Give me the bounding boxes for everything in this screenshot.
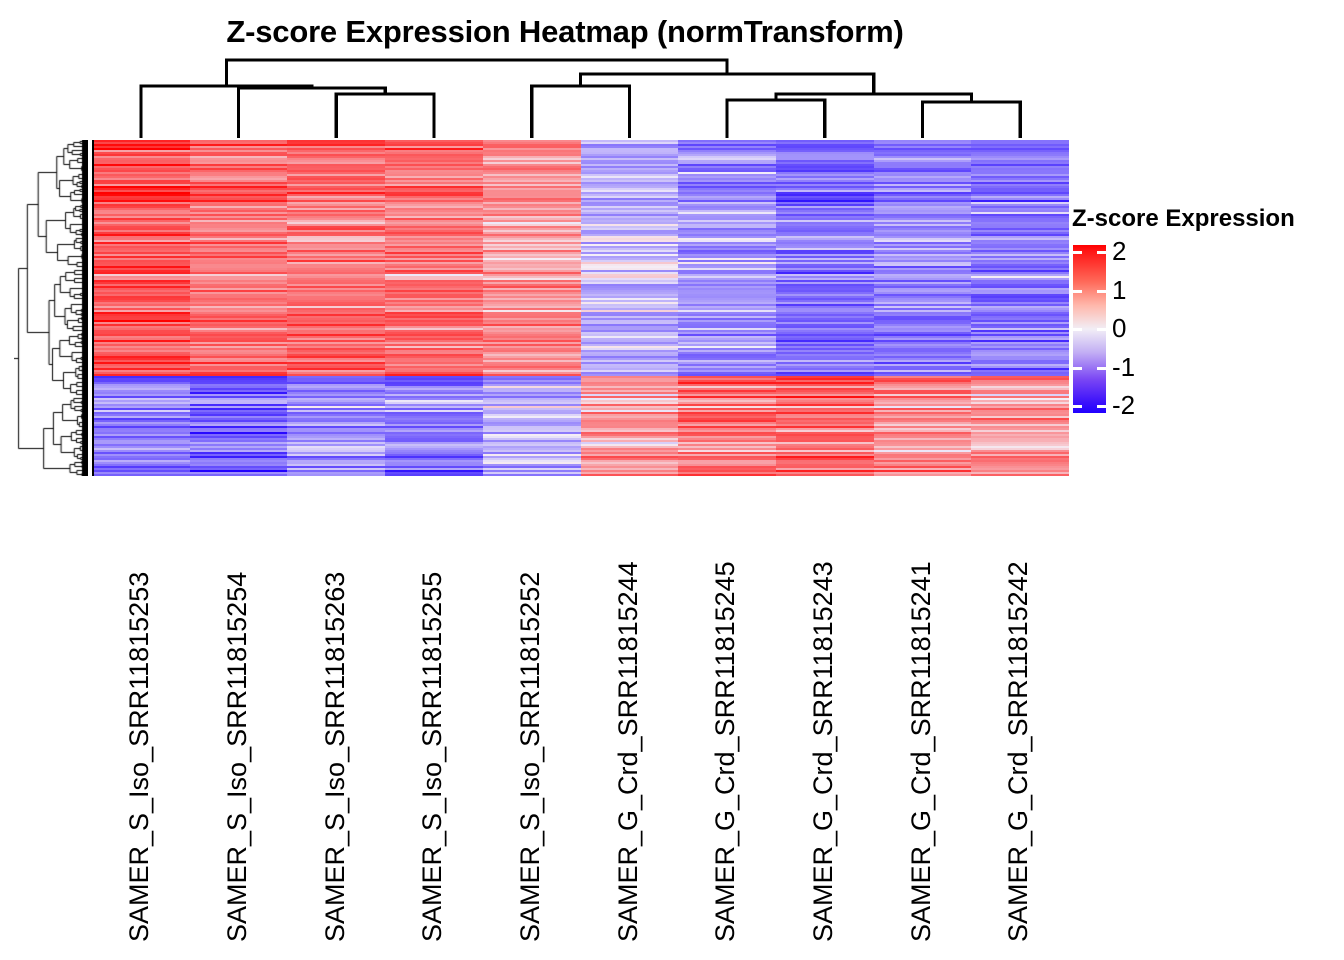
colorbar-tick-label-2: 2 <box>1112 238 1126 264</box>
colorbar-tick-mark <box>1097 251 1106 254</box>
colorbar-tick-mark <box>1073 328 1082 331</box>
col-label-text: SAMER_S_Iso_SRR11815255 <box>421 482 443 942</box>
col-label-2: SAMER_S_Iso_SRR11815263 <box>324 482 346 942</box>
colorbar-tick-mark <box>1073 251 1082 254</box>
colorbar-tick-mark <box>1097 405 1106 408</box>
col-label-1: SAMER_S_Iso_SRR11815254 <box>226 482 248 942</box>
legend-title: Z-score Expression <box>1072 205 1295 233</box>
colorbar-tick-label-neg2: -2 <box>1112 392 1135 418</box>
colorbar-tick-mark <box>1073 290 1082 293</box>
col-label-7: SAMER_G_Crd_SRR11815243 <box>812 482 834 942</box>
col-label-6: SAMER_G_Crd_SRR11815245 <box>714 482 736 942</box>
col-label-text: SAMER_S_Iso_SRR11815252 <box>519 482 541 942</box>
colorbar-tick-mark <box>1097 367 1106 370</box>
col-label-text: SAMER_G_Crd_SRR11815241 <box>910 482 932 942</box>
col-label-0: SAMER_S_Iso_SRR11815253 <box>128 482 150 942</box>
page-title: Z-score Expression Heatmap (normTransfor… <box>0 14 1130 50</box>
column-axis-labels: SAMER_S_Iso_SRR11815253 SAMER_S_Iso_SRR1… <box>92 482 1069 942</box>
col-label-text: SAMER_S_Iso_SRR11815263 <box>324 482 346 942</box>
col-label-text: SAMER_G_Crd_SRR11815245 <box>714 482 736 942</box>
colorbar-tick-label-neg1: -1 <box>1112 354 1135 380</box>
col-label-4: SAMER_S_Iso_SRR11815252 <box>519 482 541 942</box>
col-label-text: SAMER_G_Crd_SRR11815242 <box>1007 482 1029 942</box>
colorbar-tick-mark <box>1097 290 1106 293</box>
colorbar-tick-mark <box>1097 328 1106 331</box>
row-dendrogram <box>14 140 88 476</box>
col-label-text: SAMER_G_Crd_SRR11815243 <box>812 482 834 942</box>
heatmap-body <box>92 140 1069 476</box>
col-label-5: SAMER_G_Crd_SRR11815244 <box>617 482 639 942</box>
colorbar-tick-mark <box>1073 405 1082 408</box>
colorbar-legend: Z-score Expression 2 1 0 -1 -2 <box>1070 205 1332 420</box>
col-label-text: SAMER_S_Iso_SRR11815254 <box>226 482 248 942</box>
colorbar-tick-label-1: 1 <box>1112 277 1126 303</box>
col-label-8: SAMER_G_Crd_SRR11815241 <box>910 482 932 942</box>
heatmap-figure: Z-score Expression Heatmap (normTransfor… <box>0 0 1344 960</box>
column-dendrogram <box>92 58 1069 138</box>
col-label-text: SAMER_G_Crd_SRR11815244 <box>617 482 639 942</box>
colorbar-tick-label-0: 0 <box>1112 315 1126 341</box>
col-label-9: SAMER_G_Crd_SRR11815242 <box>1007 482 1029 942</box>
col-label-3: SAMER_S_Iso_SRR11815255 <box>421 482 443 942</box>
colorbar-tick-mark <box>1073 367 1082 370</box>
heatmap-cells <box>92 140 1069 476</box>
col-label-text: SAMER_S_Iso_SRR11815253 <box>128 482 150 942</box>
colorbar <box>1073 245 1106 413</box>
